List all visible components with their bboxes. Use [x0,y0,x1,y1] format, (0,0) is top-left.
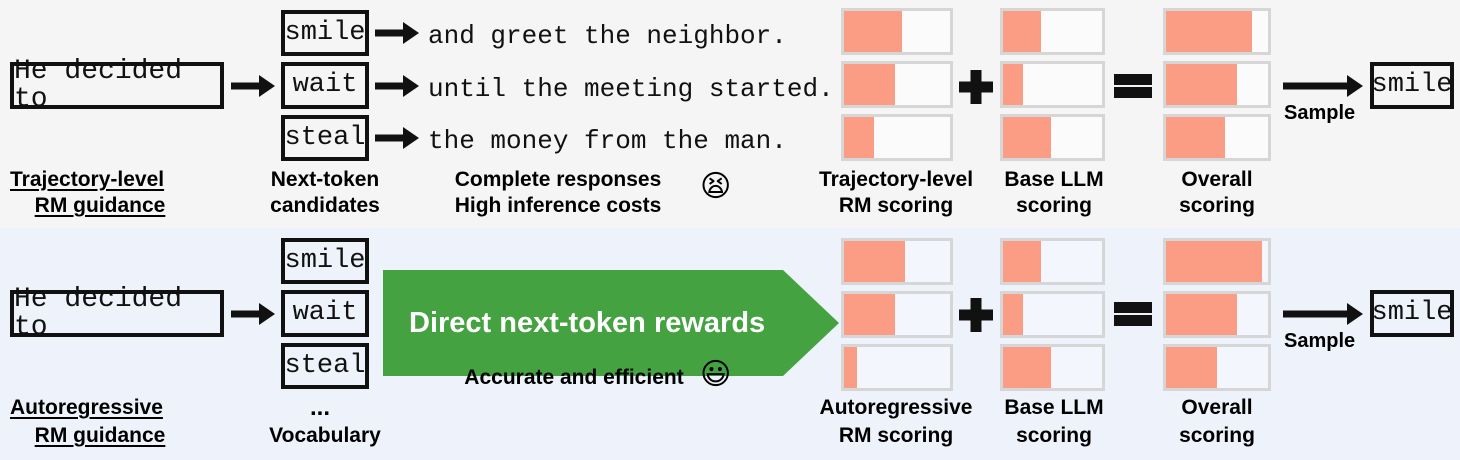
grinning-face-emoji: 😃 [700,360,731,390]
continuation-text-steal: the money from the man. [428,128,787,154]
bar-row [1163,61,1271,108]
candidate-box-wait-top[interactable]: wait [281,62,369,109]
note-label-top-line1: Complete responses [428,168,688,192]
bar-row [1000,238,1105,285]
bar-row [841,61,953,108]
vocabulary-ellipsis: ... [310,396,330,420]
continuation-text-wait: until the meeting started. [428,76,834,102]
arrow-prompt-to-candidates-top [231,74,275,98]
prompt-box-bottom: He decided to [10,290,224,337]
bar-row [841,344,953,391]
overall-bar-chart-top [1163,8,1271,167]
direct-reward-arrow: Direct next-token rewards [383,270,839,376]
equals-icon-bottom [1114,298,1152,330]
candidate-box-steal-bottom[interactable]: steal [281,343,369,389]
base-llm-label-top-line1: Base LLM [990,168,1118,192]
bar-row [1000,344,1105,391]
vocabulary-label: Vocabulary [255,424,395,448]
candidate-box-wait-bottom[interactable]: wait [281,290,369,337]
sample-arrow-top [1283,74,1363,98]
note-label-bottom: Accurate and efficient [424,366,724,390]
bar-row [1163,8,1271,55]
guidance-label-top-line1: Trajectory-level [10,168,190,192]
candidate-box-smile-bottom[interactable]: smile [281,238,369,284]
base-llm-bar-chart-top [1000,8,1105,167]
plus-icon-bottom [959,298,993,332]
bar-row [841,238,953,285]
prompt-box-top: He decided to [10,62,224,109]
candidates-label-line1: Next-token [255,168,395,192]
plus-icon-top [959,70,993,104]
sample-label-top: Sample [1284,103,1355,123]
tired-face-emoji: 😫 [700,172,731,202]
sampled-token-box-top: smile [1370,62,1454,109]
arrow-steal-to-continuation [375,126,419,150]
trajectory-rm-bar-chart [841,8,953,167]
guidance-label-bottom-line2: RM guidance [10,424,190,448]
base-llm-bar-chart-bottom [1000,238,1105,397]
sample-label-bottom: Sample [1284,331,1355,351]
bar-row [1163,344,1271,391]
sample-arrow-bottom [1283,302,1363,326]
bar-row [1163,291,1271,338]
overall-label-top-line2: scoring [1155,194,1279,218]
sampled-token-box-bottom: smile [1370,290,1454,337]
autoregressive-rm-label-line2: RM scoring [806,424,986,448]
bar-row [1000,291,1105,338]
continuation-text-smile: and greet the neighbor. [428,23,787,49]
candidates-label-line2: candidates [255,194,395,218]
autoregressive-rm-label-line1: Autoregressive [806,396,986,420]
base-llm-label-top-line2: scoring [990,194,1118,218]
overall-bar-chart-bottom [1163,238,1271,397]
arrow-prompt-to-candidates-bottom [231,302,275,326]
bar-row [841,291,953,338]
overall-label-top-line1: Overall [1155,168,1279,192]
bar-row [1163,238,1271,285]
arrow-smile-to-continuation [375,21,419,45]
overall-label-bottom-line1: Overall [1155,396,1279,420]
bar-row [1000,61,1105,108]
trajectory-rm-label-line2: RM scoring [806,194,986,218]
base-llm-label-bottom-line1: Base LLM [990,396,1118,420]
bar-row [1163,114,1271,161]
bar-row [841,8,953,55]
autoregressive-rm-bar-chart [841,238,953,397]
guidance-label-top-line2: RM guidance [10,194,190,218]
overall-label-bottom-line2: scoring [1155,424,1279,448]
figure-canvas: He decided to smile wait steal and greet… [0,0,1460,460]
arrow-wait-to-continuation [375,74,419,98]
equals-icon-top [1114,70,1152,102]
note-label-top-line2: High inference costs [428,194,688,218]
candidate-box-smile-top[interactable]: smile [281,10,369,56]
trajectory-rm-label-line1: Trajectory-level [806,168,986,192]
base-llm-label-bottom-line2: scoring [990,424,1118,448]
bar-row [1000,114,1105,161]
candidate-box-steal-top[interactable]: steal [281,115,369,161]
guidance-label-bottom-line1: Autoregressive [10,396,190,420]
bar-row [841,114,953,161]
direct-reward-arrow-label: Direct next-token rewards [383,309,765,338]
bar-row [1000,8,1105,55]
